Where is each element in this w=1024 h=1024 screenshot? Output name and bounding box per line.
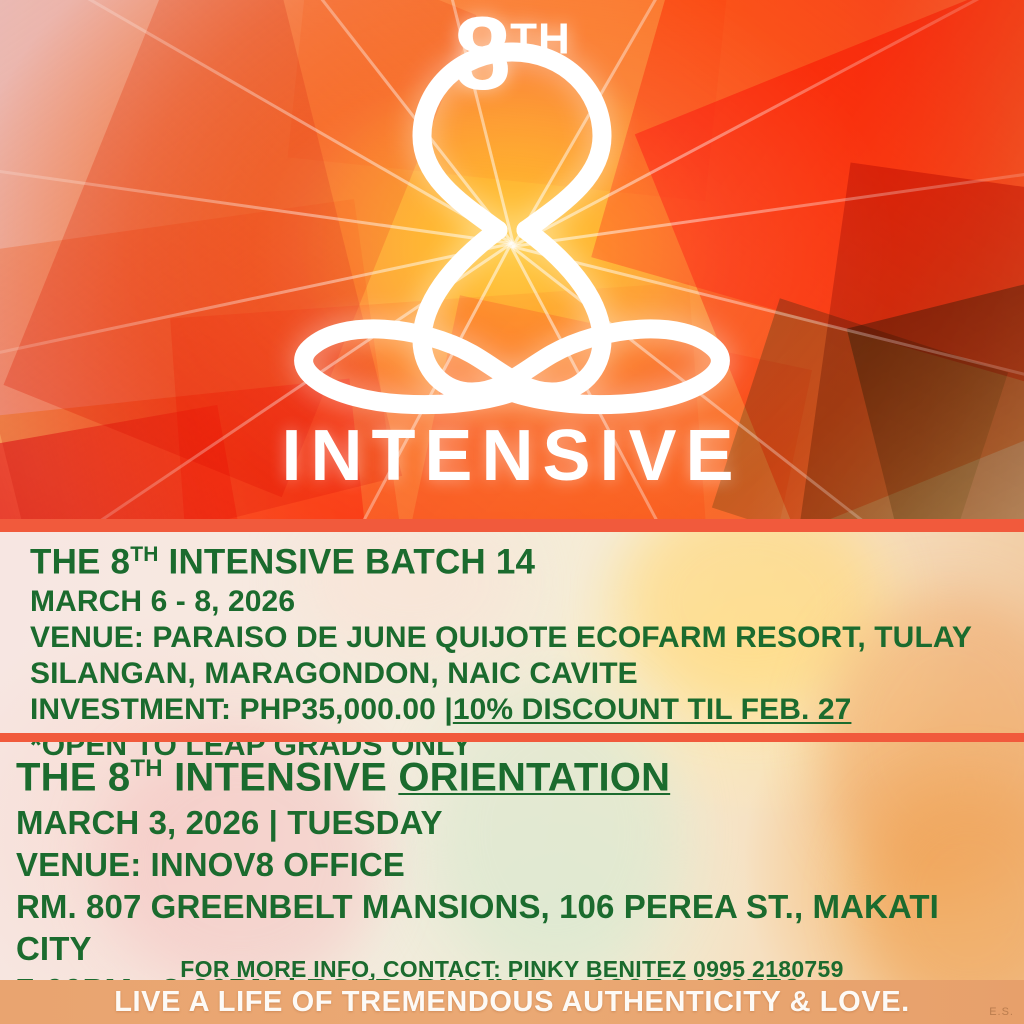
logo-wordmark: INTENSIVE [0,420,1024,492]
orientation-heading-ordinal-suffix: TH [130,755,162,782]
batch-heading-ordinal-suffix: TH [130,543,158,566]
orientation-heading: THE 8TH INTENSIVE ORIENTATION [16,744,1016,802]
orientation-heading-prefix: THE 8 [16,755,130,799]
batch-info-block: THE 8TH INTENSIVE BATCH 14 MARCH 6 - 8, … [30,534,1010,764]
orientation-venue: VENUE: INNOV8 OFFICE [16,844,1016,886]
divider-bar-top [0,519,1024,532]
hero-banner: 8TH INTENSIVE [0,0,1024,519]
footer-tagline: LIVE A LIFE OF TREMENDOUS AUTHENTICITY &… [114,986,910,1019]
batch-investment: INVESTMENT: PHP35,000.00 |10% DISCOUNT T… [30,692,1010,728]
meditating-figure-icon [262,18,762,438]
contact-info: FOR MORE INFO, CONTACT: PINKY BENITEZ 09… [0,955,1024,983]
orientation-heading-mid: INTENSIVE [163,755,399,799]
orientation-heading-underlined: ORIENTATION [398,755,670,799]
batch-investment-amount: INVESTMENT: PHP35,000.00 | [30,693,453,726]
batch-heading-prefix: THE 8 [30,543,130,582]
batch-venue-line-2: SILANGAN, MARAGONDON, NAIC CAVITE [30,656,1010,692]
batch-date: MARCH 6 - 8, 2026 [30,584,1010,620]
footer-band: LIVE A LIFE OF TREMENDOUS AUTHENTICITY &… [0,980,1024,1024]
batch-venue-line-1: VENUE: PARAISO DE JUNE QUIJOTE ECOFARM R… [30,620,1010,656]
batch-heading-rest: INTENSIVE BATCH 14 [159,543,536,582]
brand-logo: 8TH INTENSIVE [0,0,1024,519]
divider-bar-middle [0,733,1024,742]
orientation-date: MARCH 3, 2026 | TUESDAY [16,802,1016,844]
event-poster: 8TH INTENSIVE [0,0,1024,1024]
batch-heading: THE 8TH INTENSIVE BATCH 14 [30,534,1010,584]
artist-watermark: E.S. [989,1006,1014,1018]
batch-discount-note: 10% DISCOUNT TIL FEB. 27 [453,693,852,726]
